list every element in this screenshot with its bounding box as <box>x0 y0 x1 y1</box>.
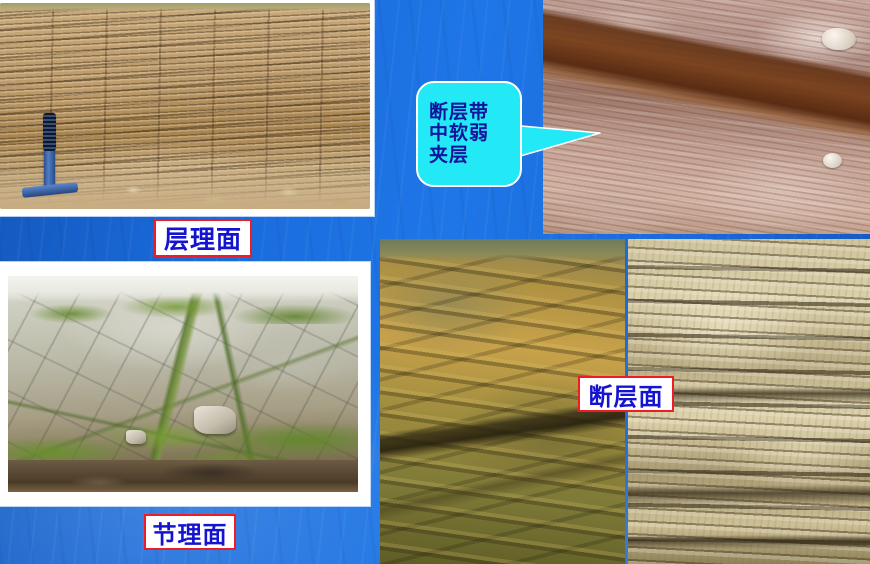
callout-line-1: 断层带 <box>429 102 489 124</box>
boulder-graphic <box>126 430 146 444</box>
dark-parting-band-graphic <box>628 535 870 549</box>
photo-bedding-plane-inner <box>0 3 370 209</box>
callout-bubble: 断层带 中软弱 夹层 <box>416 81 522 187</box>
boulder-graphic <box>194 406 236 434</box>
horizon-band-graphic <box>380 239 625 261</box>
photo-bedding-plane-outcrop <box>0 0 374 216</box>
photo-joint-plane-rock-face <box>0 262 370 506</box>
caption-bedding-plane: 层理面 <box>154 219 252 257</box>
geological-hammer-icon <box>44 115 55 187</box>
hilltop-vegetation-graphic <box>8 290 358 324</box>
pebble-graphic <box>822 28 856 50</box>
pebble-graphic <box>823 153 842 168</box>
jointed-rock-face-graphic <box>8 276 358 492</box>
callout-weak-interlayer: 断层带 中软弱 夹层 <box>410 81 600 191</box>
dark-parting-band-graphic <box>628 485 870 505</box>
callout-line-2: 中软弱 <box>429 123 489 145</box>
scree-foreground-graphic <box>8 460 358 492</box>
photo-joint-plane-inner <box>8 276 358 492</box>
callout-line-3: 夹层 <box>429 145 469 167</box>
caption-fault-plane: 断层面 <box>578 376 674 412</box>
bedded-sandstone-cliff-graphic <box>0 3 370 209</box>
caption-joint-plane: 节理面 <box>144 514 236 550</box>
slide-canvas: 断层带 中软弱 夹层 层理面 节理面 断层面 <box>0 0 870 564</box>
